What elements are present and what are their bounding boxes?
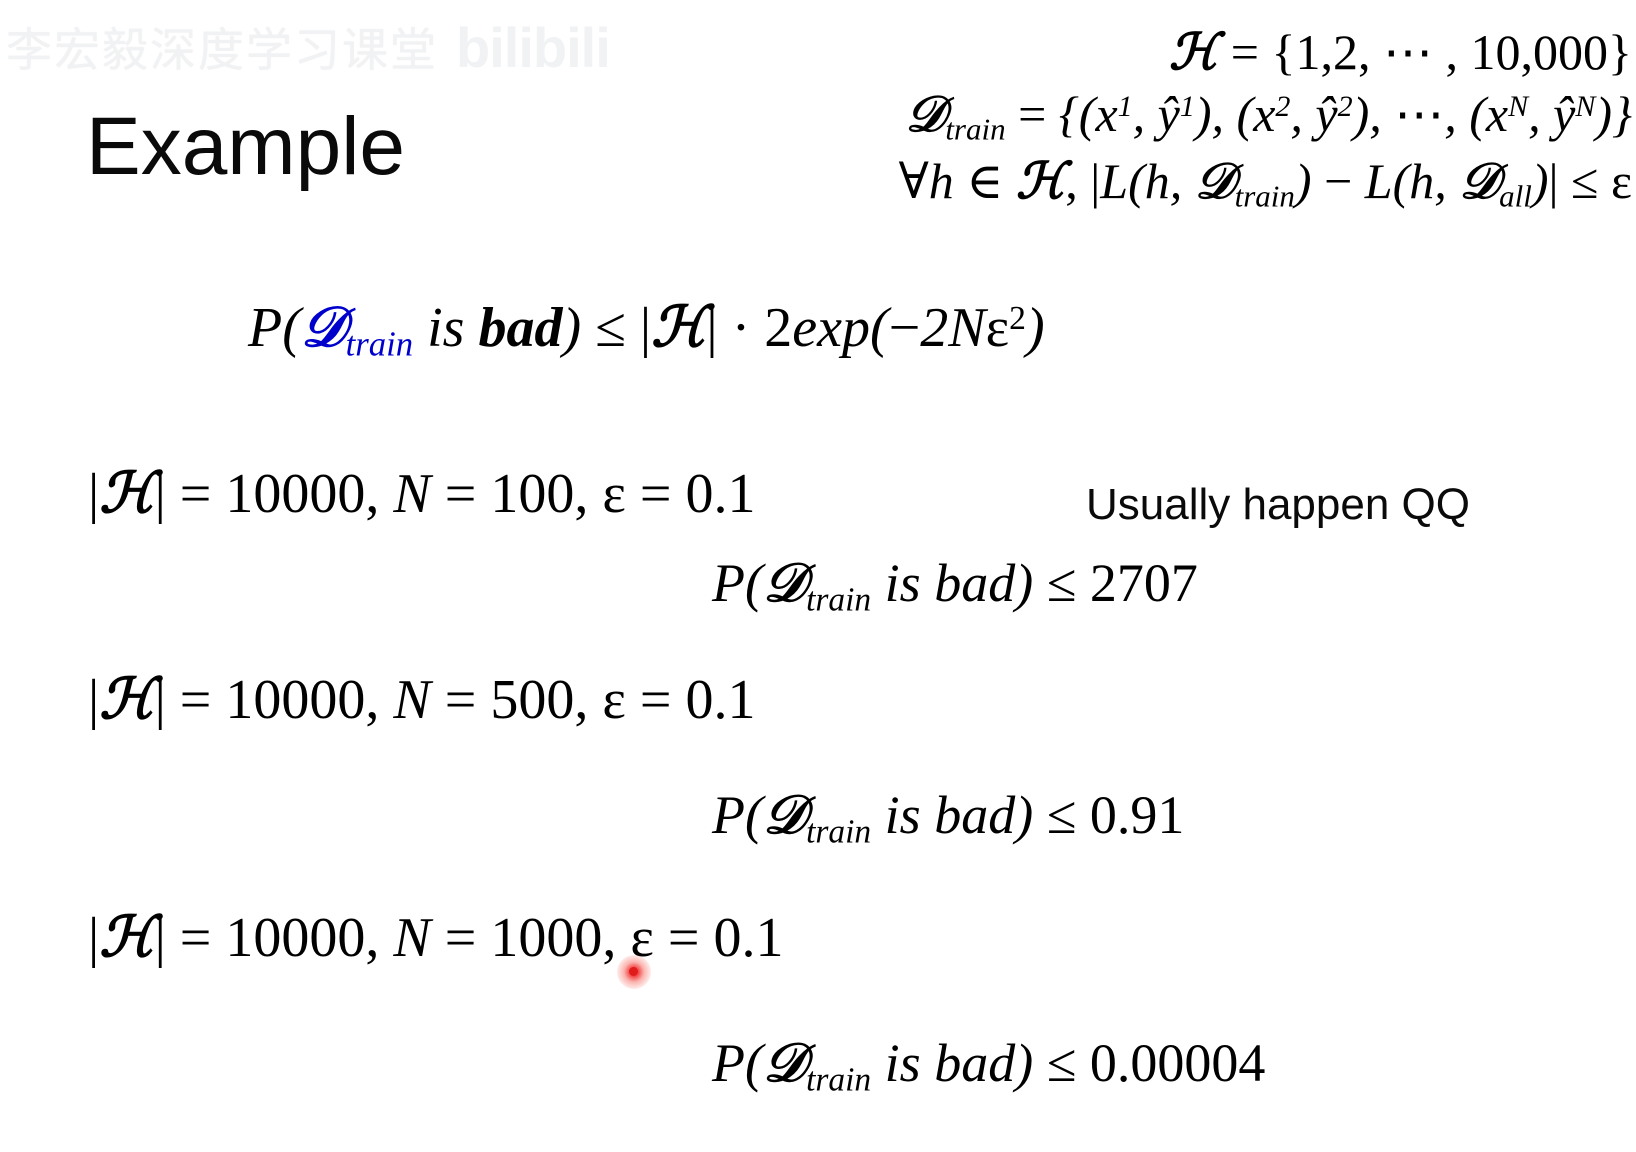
hypothesis-set-symbol: ℋ: [1169, 22, 1218, 81]
case-2-result-value: 0.91: [1090, 785, 1185, 845]
bad-word: bad: [478, 297, 562, 359]
case-2-eps-value: 0.1: [685, 669, 755, 731]
dataset-symbol: 𝒟: [905, 84, 945, 143]
case-2-card-value: 10000: [225, 669, 365, 731]
hypothesis-set-symbol: ℋ: [651, 294, 706, 360]
less-equal-sign: ≤: [595, 297, 626, 359]
case-1-parameters: |ℋ| = 10000, N = 100, ε = 0.1: [88, 462, 755, 526]
header-formula-block: ℋ = {1,2, ⋯ , 10,000} 𝒟train = {(x1, ŷ1)…: [899, 24, 1632, 215]
case-2-eps-label: ε: [602, 669, 626, 731]
bilibili-watermark: 李宏毅深度学习课堂 bilibili: [6, 14, 610, 80]
case-3-eps-label: ε: [630, 907, 654, 969]
equals-sign: =: [1218, 24, 1271, 80]
case-3-result: P(𝒟train is bad) ≤ 0.00004: [712, 1032, 1265, 1099]
case-1-n-value: 100: [490, 463, 574, 525]
page-title: Example: [86, 106, 405, 188]
case-2-n-value: 500: [490, 669, 574, 731]
formula-training-set: 𝒟train = {(x1, ŷ1), (x2, ŷ2), ⋯, (xN, ŷN…: [899, 86, 1632, 147]
dataset-symbol-highlight: 𝒟: [301, 294, 346, 360]
case-1-eps-label: ε: [602, 463, 626, 525]
watermark-channel-text: 李宏毅深度学习课堂: [6, 14, 438, 80]
equals-sign: =: [1006, 86, 1059, 142]
is-word: is: [427, 297, 464, 359]
case-3-result-value: 0.00004: [1090, 1033, 1266, 1093]
training-set-value: {(x1, ŷ1), (x2, ŷ2), ⋯, (xN, ŷN)}: [1059, 86, 1632, 142]
case-1-result: P(𝒟train is bad) ≤ 2707: [712, 552, 1198, 619]
forall-symbol: ∀: [899, 153, 929, 209]
formula-uniform-bound: ∀h ∈ ℋ, |L(h, 𝒟train) − L(h, 𝒟all)| ≤ ε: [899, 153, 1632, 214]
main-bound-formula: P(𝒟train is bad) ≤ |ℋ| · 2exp(−2Nε2): [248, 296, 1045, 365]
case-1-card-value: 10000: [225, 463, 365, 525]
case-3-n-value: 1000: [490, 907, 602, 969]
dot-operator: ·: [732, 297, 751, 359]
case-1-eps-value: 0.1: [685, 463, 755, 525]
dataset-subscript: train: [945, 112, 1005, 147]
case-3-card-value: 10000: [225, 907, 365, 969]
bilibili-logo-icon: bilibili: [456, 15, 610, 80]
hypothesis-set-value: {1,2, ⋯ , 10,000}: [1272, 24, 1633, 80]
case-2-parameters: |ℋ| = 10000, N = 500, ε = 0.1: [88, 668, 755, 732]
case-2-n-label: N: [393, 669, 430, 731]
dataset-subscript-highlight: train: [346, 325, 414, 364]
annotation-usually-happen: Usually happen QQ: [1086, 480, 1470, 530]
case-2-result: P(𝒟train is bad) ≤ 0.91: [712, 784, 1184, 851]
case-3-n-label: N: [393, 907, 430, 969]
case-1-n-label: N: [393, 463, 430, 525]
formula-hypothesis-set: ℋ = {1,2, ⋯ , 10,000}: [899, 24, 1632, 80]
case-1-result-value: 2707: [1090, 553, 1198, 613]
case-3-eps-value: 0.1: [713, 907, 783, 969]
case-3-parameters: |ℋ| = 10000, N = 1000, ε = 0.1: [88, 906, 783, 970]
